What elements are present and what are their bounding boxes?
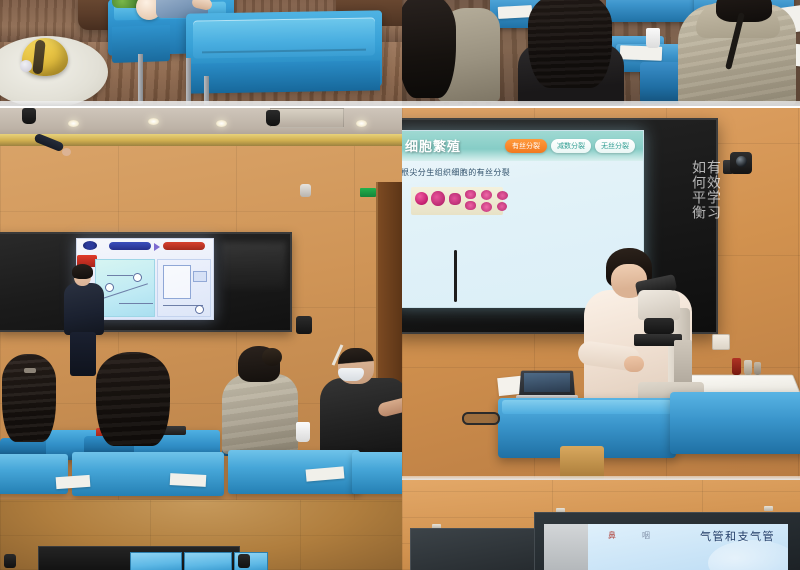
laptop-screen (524, 373, 570, 392)
slide-tab-mitosis: 有丝分裂 (505, 139, 547, 153)
projection-screen: 鼻 咽 气管和支气管 (588, 524, 788, 570)
observer-person (518, 0, 624, 106)
circuit-node (105, 283, 114, 292)
demo-desk-right (670, 392, 800, 454)
mitosis-stage-cell (415, 189, 428, 213)
audience-person (224, 346, 296, 452)
wall-socket-icon (712, 334, 730, 350)
presenting-teacher (62, 266, 106, 366)
slide-pill-red (163, 242, 205, 250)
blackboard-left (410, 528, 540, 570)
microscope-head (638, 290, 680, 320)
person-hair-bun (262, 348, 282, 366)
person-hair (96, 352, 170, 446)
slide-logo-icon (83, 241, 97, 250)
face-mask (338, 368, 364, 381)
microscope-nosepiece (644, 318, 674, 334)
slide-pill-blue (109, 242, 151, 250)
track-spotlight (266, 110, 280, 126)
paper-cup (296, 422, 310, 442)
circuit-node (195, 305, 204, 314)
control-wall-photo (0, 500, 402, 570)
track-spotlight (22, 108, 36, 124)
teacher-legs (70, 332, 96, 376)
wall-camera-icon (238, 554, 250, 568)
microscope-demonstration-photo: 有效学习 如何平衡 细胞繁殖 有丝分裂 减数分裂 无丝分裂 根尖分生组织细胞的有… (402, 108, 800, 480)
notebook (170, 473, 207, 487)
slide-subtitle: 根尖分生组织细胞的有丝分裂 (402, 167, 510, 178)
observer-person (402, 0, 490, 106)
monitor-screen (130, 552, 182, 570)
notebook (56, 475, 91, 489)
person-shirt (320, 378, 402, 456)
camera-lens-icon (736, 156, 747, 167)
mitosis-stage-cell (496, 189, 509, 213)
wooden-stool (560, 446, 604, 480)
downlight (148, 118, 159, 125)
reagent-bottle (732, 358, 741, 375)
teacher-body (64, 283, 104, 335)
microscope-control-panel (674, 340, 692, 386)
desk-apron (190, 60, 380, 93)
chevron-right-icon (154, 243, 160, 251)
observer-hair (402, 0, 456, 98)
paper-cup (646, 28, 660, 48)
demo-desk-top (502, 400, 672, 414)
teacher-hair (72, 264, 93, 279)
photo-collage: 有效学习 如何平衡 细胞繁殖 有丝分裂 减数分裂 无丝分裂 根尖分生组织细胞的有… (0, 0, 800, 570)
slide-label-pharynx: 咽 (642, 530, 650, 541)
hair-clip (24, 368, 36, 373)
exit-sign-icon (360, 188, 376, 197)
audience-desk (352, 452, 402, 494)
person-jacket (222, 374, 298, 454)
mitosis-stage-cell (480, 189, 493, 213)
observer-hair (528, 0, 612, 88)
mitosis-stage-cell (448, 189, 461, 213)
circuit-line (119, 303, 153, 304)
reagent-bottle (754, 362, 761, 375)
slide-tab-amitosis: 无丝分裂 (595, 139, 635, 153)
wall-camera-icon (296, 316, 312, 334)
circuit-line (107, 275, 133, 276)
teacher-hand (62, 148, 71, 156)
desk-leg (138, 54, 143, 104)
panel-divider (0, 101, 402, 106)
audience-person (2, 354, 62, 450)
mitosis-stage-cell (431, 189, 444, 213)
cushion-face (20, 60, 32, 72)
ceiling-panel (270, 108, 344, 128)
reagent-bottle (744, 360, 752, 375)
wall-camera-icon (4, 554, 16, 568)
panel-divider (402, 101, 800, 106)
eyeglasses (462, 412, 500, 425)
downlight (356, 120, 367, 127)
ceiling-camera-icon (300, 184, 311, 197)
slide-box (193, 271, 207, 282)
downlight (68, 120, 79, 127)
demonstration-desks-photo (0, 0, 402, 106)
power-cord (454, 250, 457, 302)
screen-side-panel (544, 524, 590, 570)
mitosis-stage-cell (464, 189, 477, 213)
slide-title: 细胞繁殖 (405, 136, 461, 155)
slide-tab-meiosis: 减数分裂 (551, 139, 591, 153)
slide-decoration (708, 540, 788, 570)
second-classroom-photo: 鼻 咽 气管和支气管 (402, 480, 800, 570)
board-smudge (222, 242, 286, 290)
board-mount (764, 506, 773, 511)
slide-box (163, 265, 191, 299)
monitor-screen (184, 552, 232, 570)
audience-person (96, 352, 172, 452)
lecture-hall-photo (0, 108, 402, 500)
seated-observers-photo (402, 0, 800, 106)
slide-label-nose: 鼻 (608, 530, 616, 541)
desk-leg (186, 58, 191, 106)
downlight (216, 120, 227, 127)
observer-hair (716, 0, 772, 22)
circuit-node (133, 273, 142, 282)
